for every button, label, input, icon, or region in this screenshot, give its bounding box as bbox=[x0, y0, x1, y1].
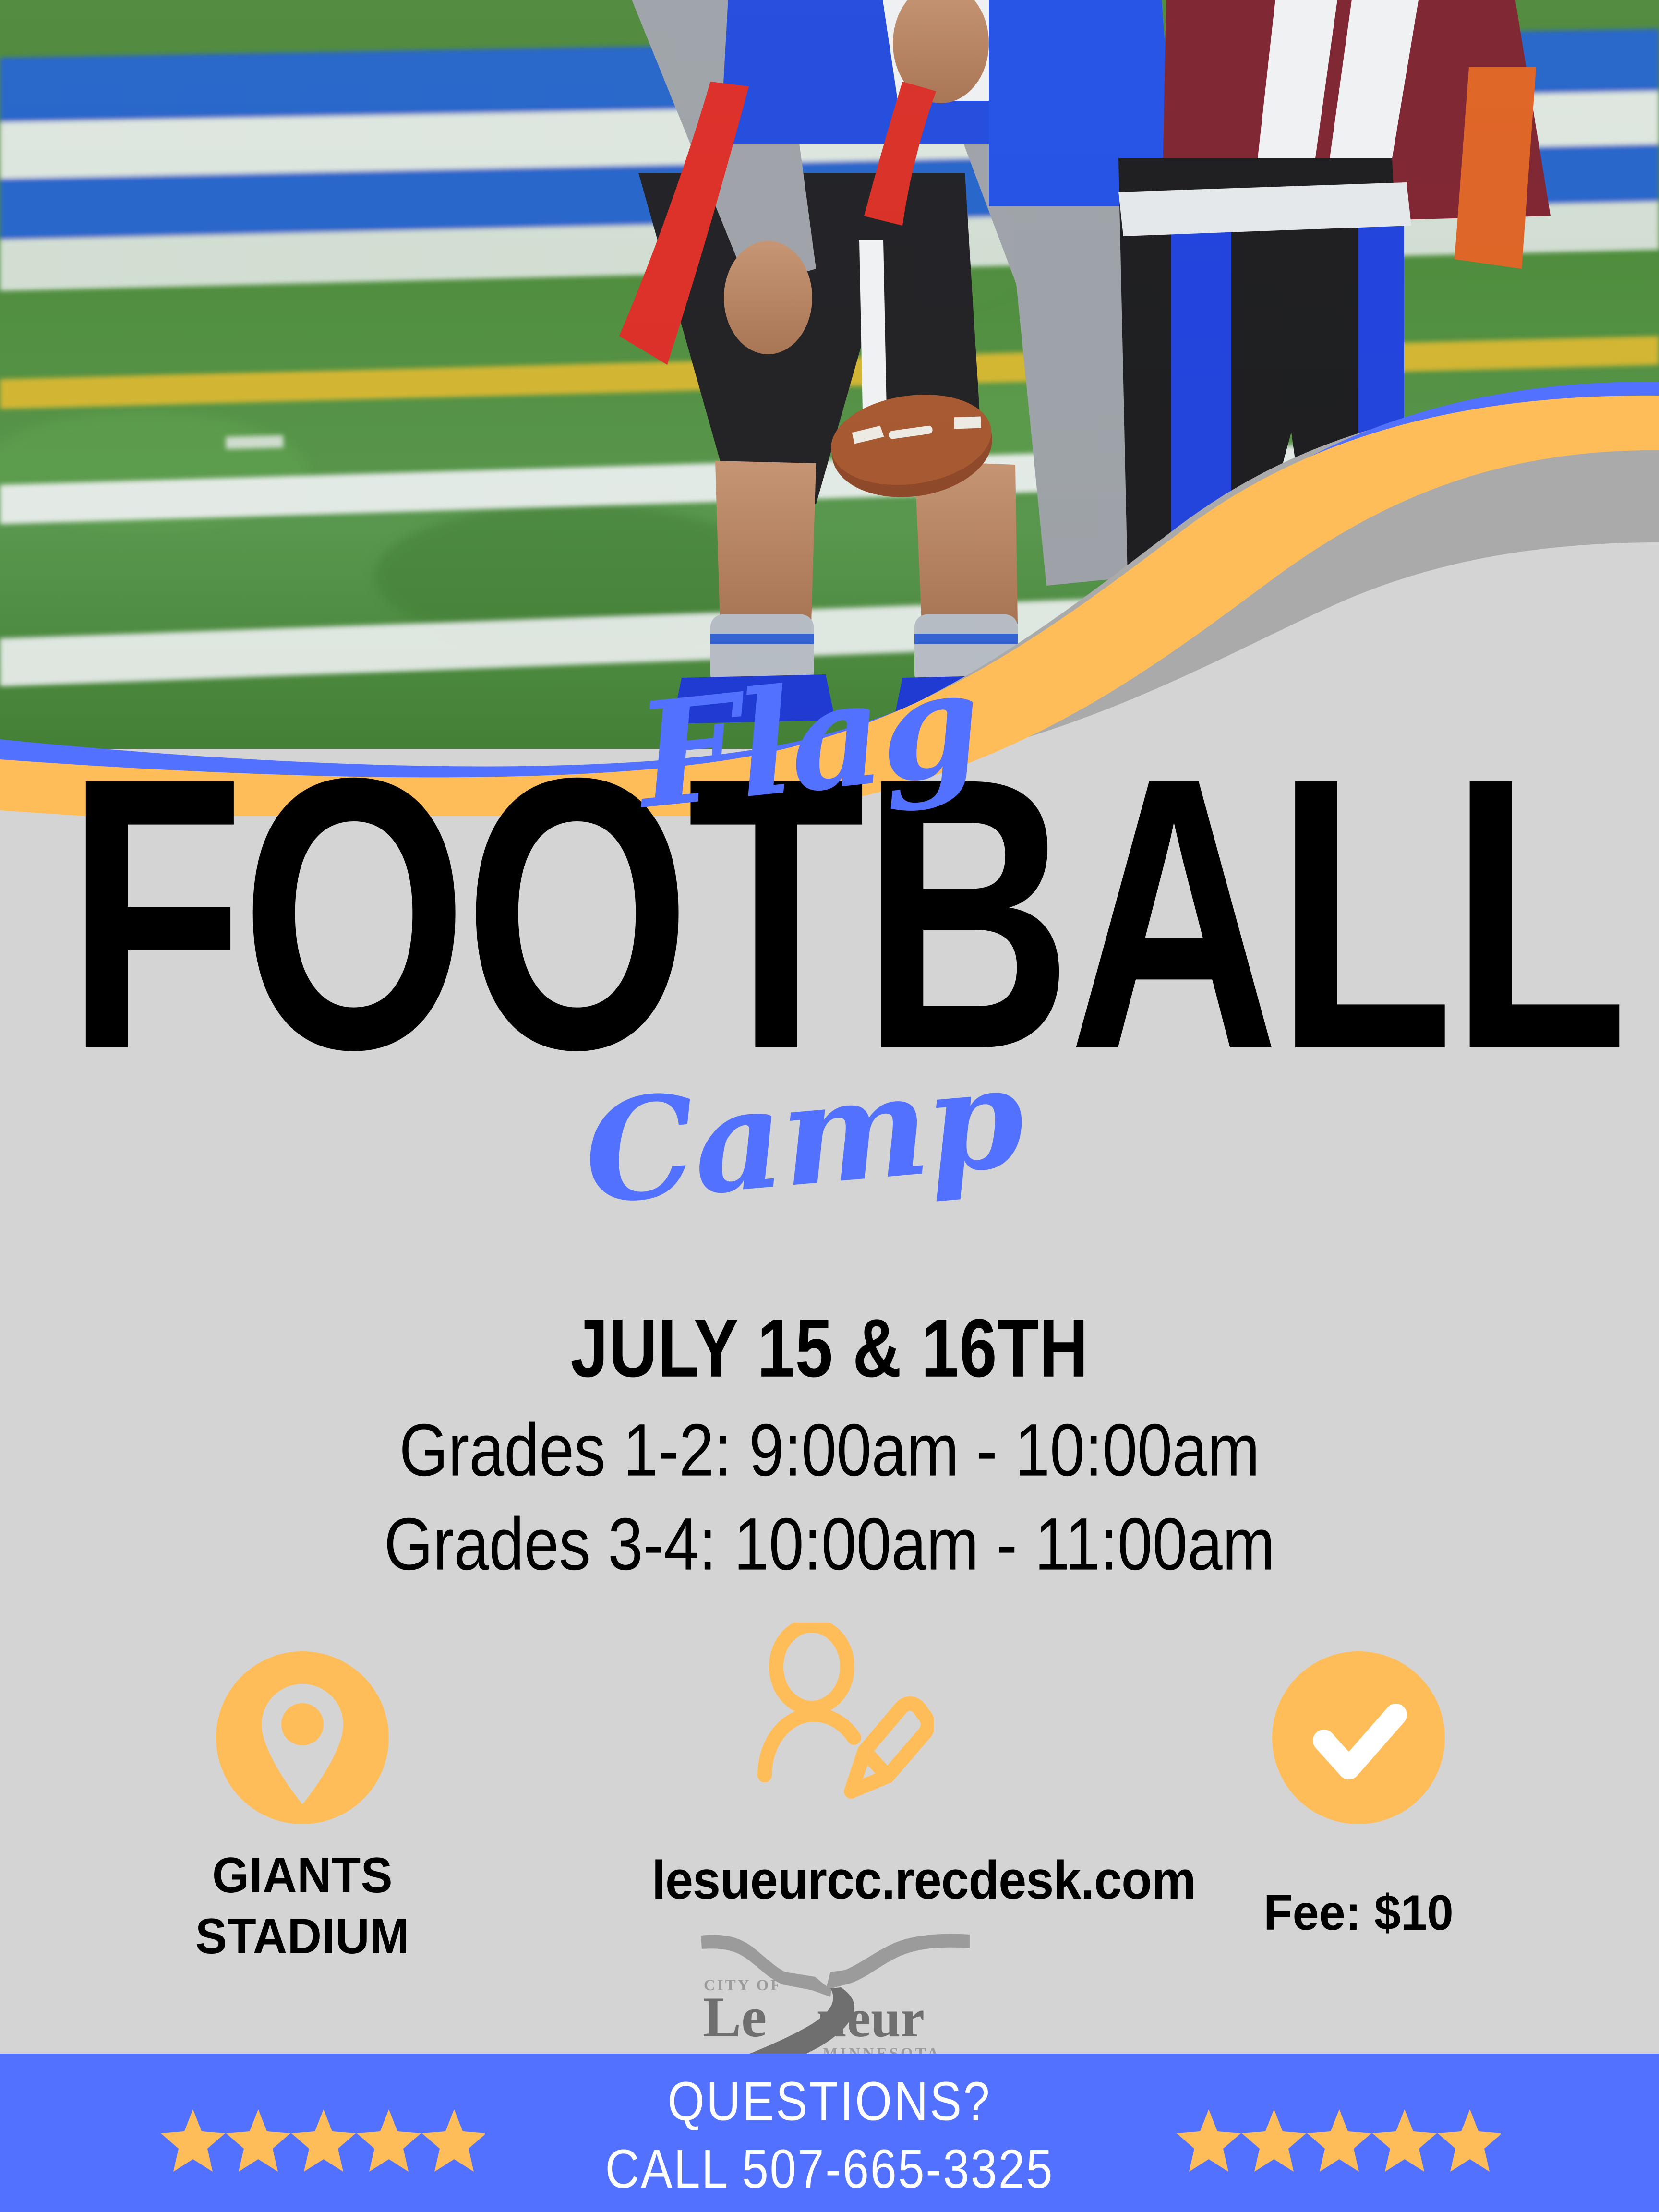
checkmark-icon bbox=[1272, 1651, 1445, 1824]
schedule-block: JULY 15 & 16TH Grades 1-2: 9:00am - 10:0… bbox=[0, 1310, 1659, 1588]
star-icon bbox=[1438, 2109, 1501, 2172]
location-caption: GIANTS STADIUM bbox=[120, 1845, 485, 1967]
location-line-2: STADIUM bbox=[120, 1906, 485, 1967]
user-edit-register-icon bbox=[727, 1623, 934, 1824]
stars-right-group bbox=[1174, 2107, 1501, 2175]
svg-text:ueur: ueur bbox=[817, 1989, 925, 2048]
svg-text:Le: Le bbox=[703, 1985, 767, 2049]
location-pin-icon bbox=[216, 1651, 389, 1824]
session-grades-1-2: Grades 1-2: 9:00am - 10:00am bbox=[41, 1401, 1617, 1499]
footer-bar: QUESTIONS? CALL 507-665-3325 bbox=[0, 2054, 1659, 2212]
title-block: Flag FOOTBALL Camp bbox=[0, 667, 1659, 1320]
flyer-root: Flag FOOTBALL Camp JULY 15 & 16TH Grades… bbox=[0, 0, 1659, 2212]
star-icon bbox=[1242, 2109, 1306, 2172]
info-item-register: lesueurcc.recdesk.com bbox=[638, 1623, 1022, 1911]
info-item-location: GIANTS STADIUM bbox=[110, 1651, 494, 1967]
info-item-fee: Fee: $10 bbox=[1166, 1651, 1551, 1942]
session-grades-3-4: Grades 3-4: 10:00am - 11:00am bbox=[41, 1495, 1617, 1593]
fee-caption: Fee: $10 bbox=[1176, 1885, 1541, 1942]
star-icon bbox=[1372, 2109, 1437, 2172]
registration-url[interactable]: lesueurcc.recdesk.com bbox=[652, 1849, 1009, 1911]
event-date: JULY 15 & 16TH bbox=[50, 1305, 1610, 1392]
star-icon bbox=[1307, 2109, 1371, 2172]
star-icon bbox=[1177, 2109, 1241, 2172]
city-of-le-sueur-logo: CITY OF Le ueur MINNESOTA bbox=[686, 1925, 984, 2069]
location-line-1: GIANTS bbox=[120, 1845, 485, 1906]
